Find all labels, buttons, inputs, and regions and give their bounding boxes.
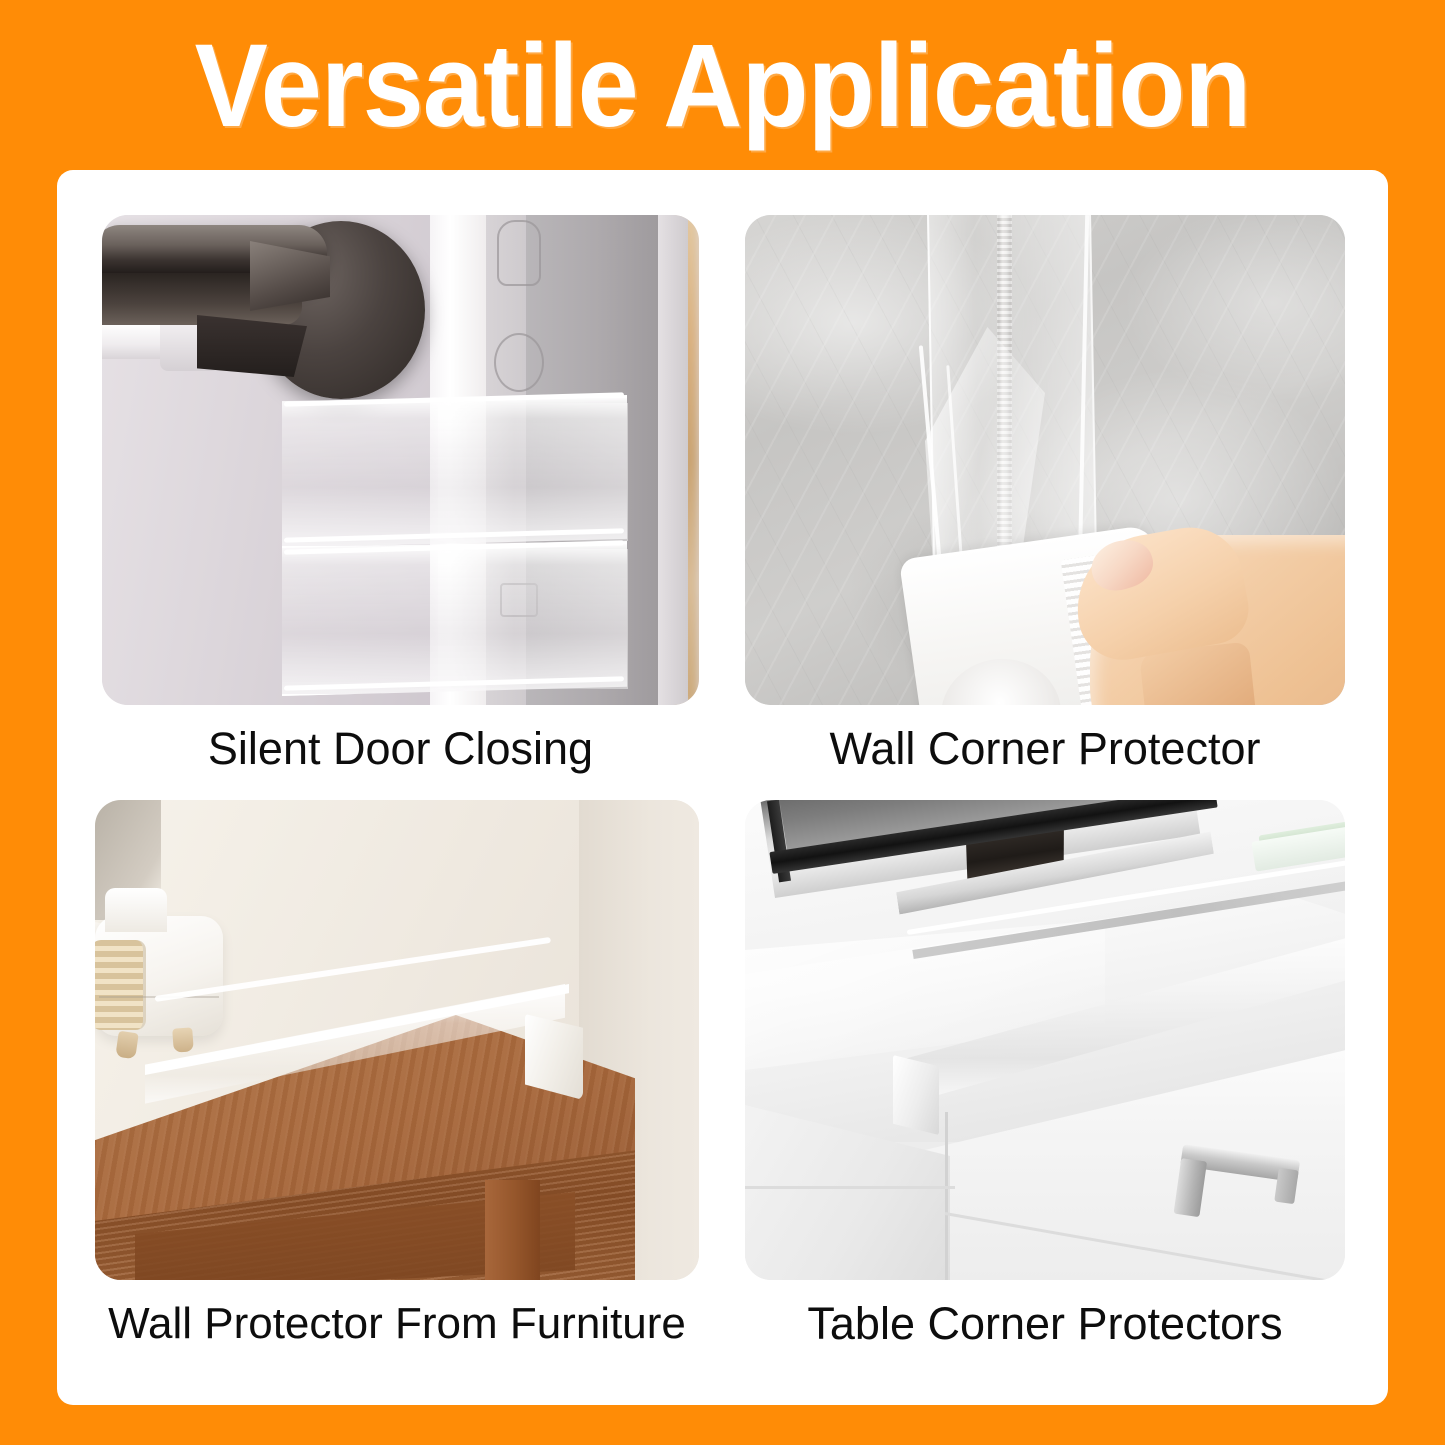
appliance-grille — [95, 940, 146, 1030]
corner-bumper-lower — [282, 541, 627, 696]
cabinet-drawer-seam-left — [745, 1186, 955, 1189]
panel-caption: Silent Door Closing — [102, 723, 699, 775]
panel-wall-corner-protector: Wall Corner Protector — [745, 215, 1345, 800]
door-frame-lip — [658, 215, 688, 705]
photo-table-corner-protectors — [745, 800, 1345, 1280]
cabinet-corner-edge — [945, 1112, 948, 1280]
panel-caption: Wall Protector From Furniture — [95, 1298, 699, 1350]
corner-bumper-upper — [282, 395, 627, 548]
panel-table-corner-protectors: Table Corner Protectors — [745, 800, 1345, 1375]
photo-wall-corner-protector — [745, 215, 1345, 705]
appliance-top — [105, 888, 167, 932]
panel-silent-door-closing: Silent Door Closing — [102, 215, 699, 800]
photo-wall-protector-from-furniture — [95, 800, 699, 1280]
panel-caption: Wall Corner Protector — [745, 723, 1345, 775]
frame-detail-circle — [494, 333, 544, 392]
panel-wall-protector-from-furniture: Wall Protector From Furniture — [95, 800, 699, 1375]
drawer-handle[interactable] — [1172, 1144, 1300, 1242]
photo-silent-door-closing — [102, 215, 699, 705]
panel-caption: Table Corner Protectors — [745, 1298, 1345, 1350]
page-title: Versatile Application — [51, 24, 1395, 148]
panels-card: Silent Door Closing — [57, 170, 1388, 1405]
desk-leg — [485, 1180, 540, 1280]
appliance-leg-right — [172, 1027, 194, 1052]
protector-corner-cap — [893, 1055, 939, 1135]
infographic-root: Versatile Application — [0, 0, 1445, 1445]
frame-detail-slot — [497, 220, 541, 286]
